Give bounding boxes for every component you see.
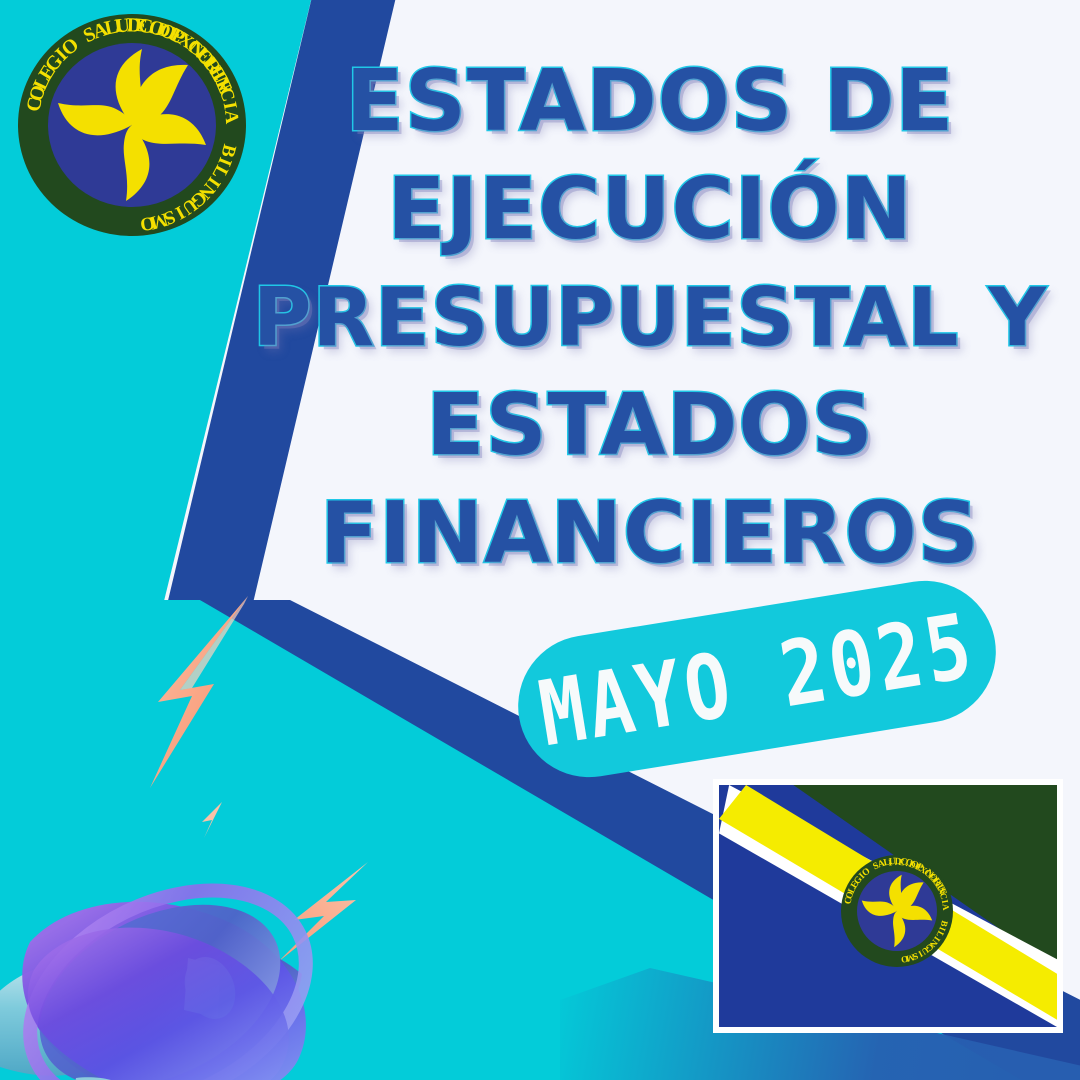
- title-line-2: EJECUCIÓN: [250, 156, 1050, 264]
- title-line-3: PRESUPUESTAL Y: [250, 264, 1050, 372]
- title-line-1: ESTADOS DE: [250, 48, 1050, 156]
- colegio-flag: COLEGIO SALUDCOOP NORTEEXCELENCIABILINGU…: [719, 785, 1057, 1027]
- school-seal-logo-small: COLEGIO SALUDCOOP NORTEEXCELENCIABILINGU…: [841, 855, 953, 967]
- megaphone-icon: [0, 760, 432, 1080]
- seal-char: E: [134, 15, 149, 38]
- seal-char: .: [127, 15, 132, 37]
- seal-char: O: [900, 954, 908, 965]
- page-title: ESTADOS DE EJECUCIÓN PRESUPUESTAL Y ESTA…: [250, 48, 1050, 588]
- seal-char: A: [941, 903, 951, 910]
- seal-ring-text: COLEGIO SALUDCOOP NORTEEXCELENCIABILINGU…: [18, 14, 246, 236]
- seal-ring-text-small: COLEGIO SALUDCOOP NORTEEXCELENCIABILINGU…: [841, 855, 953, 967]
- seal-char: .: [895, 857, 897, 867]
- seal-char: E: [898, 857, 905, 868]
- poster-canvas: COLEGIO SALUDCOOP NORTEEXCELENCIABILINGU…: [0, 0, 1080, 1080]
- seal-char: I: [888, 857, 893, 867]
- flag-image-card: COLEGIO SALUDCOOP NORTEEXCELENCIABILINGU…: [713, 779, 1063, 1033]
- title-line-4: ESTADOS: [250, 372, 1050, 480]
- school-seal-logo: COLEGIO SALUDCOOP NORTEEXCELENCIABILINGU…: [18, 14, 246, 236]
- seal-char: A: [219, 109, 242, 124]
